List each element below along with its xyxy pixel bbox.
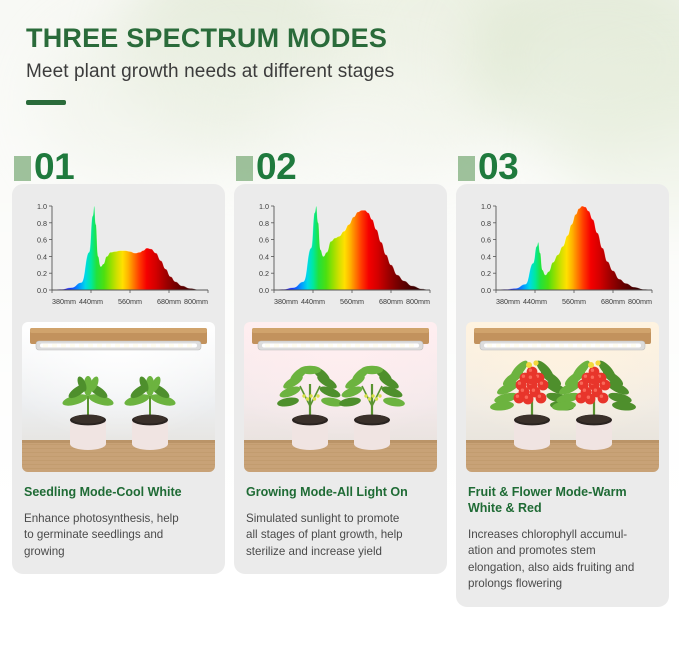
mode-column-03: 030.00.20.40.60.81.0380mm440mm560mm680mm… — [456, 139, 669, 607]
svg-text:560mm: 560mm — [118, 297, 142, 306]
svg-text:0.0: 0.0 — [481, 286, 491, 295]
young-plants-under-full-spectrum-grow-light — [244, 322, 437, 472]
svg-text:0.4: 0.4 — [259, 252, 269, 261]
badge-square-icon — [14, 156, 31, 181]
svg-text:380mm: 380mm — [52, 297, 76, 306]
mode-badge-02: 02 — [234, 139, 447, 184]
svg-text:1.0: 1.0 — [481, 202, 491, 211]
mode-title: Fruit & Flower Mode-Warm White & Red — [466, 484, 659, 516]
mode-number: 03 — [478, 150, 518, 184]
svg-text:800mm: 800mm — [628, 297, 652, 306]
fruiting-tomato-plants-under-warm-red-grow-light — [466, 322, 659, 472]
mode-description: Enhance photosynthesis, help to germinat… — [22, 511, 215, 560]
mode-description: Increases chlorophyll accumul- ation and… — [466, 527, 659, 593]
svg-text:440mm: 440mm — [523, 297, 547, 306]
mode-description: Simulated sunlight to promote all stages… — [244, 511, 437, 560]
svg-text:800mm: 800mm — [406, 297, 430, 306]
svg-text:680mm: 680mm — [601, 297, 625, 306]
svg-text:0.0: 0.0 — [37, 286, 47, 295]
seedlings-under-cool-white-grow-light — [22, 322, 215, 472]
svg-text:0.0: 0.0 — [259, 286, 269, 295]
page-title: THREE SPECTRUM MODES — [26, 24, 679, 54]
svg-text:1.0: 1.0 — [37, 202, 47, 211]
page-subtitle: Meet plant growth needs at different sta… — [26, 61, 679, 83]
svg-text:0.6: 0.6 — [481, 236, 491, 245]
svg-text:0.8: 0.8 — [481, 219, 491, 228]
mode-title: Growing Mode-All Light On — [244, 484, 437, 500]
mode-badge-03: 03 — [456, 139, 669, 184]
mode-title: Seedling Mode-Cool White — [22, 484, 215, 500]
header: THREE SPECTRUM MODES Meet plant growth n… — [0, 0, 679, 105]
mode-badge-01: 01 — [12, 139, 225, 184]
svg-text:0.2: 0.2 — [37, 269, 47, 278]
svg-text:560mm: 560mm — [562, 297, 586, 306]
mode-number: 01 — [34, 150, 74, 184]
svg-text:380mm: 380mm — [274, 297, 298, 306]
mode-card: 0.00.20.40.60.81.0380mm440mm560mm680mm80… — [234, 184, 447, 574]
svg-text:800mm: 800mm — [184, 297, 208, 306]
mode-column-01: 010.00.20.40.60.81.0380mm440mm560mm680mm… — [12, 139, 225, 574]
svg-text:0.2: 0.2 — [259, 269, 269, 278]
svg-text:0.8: 0.8 — [37, 219, 47, 228]
svg-text:0.6: 0.6 — [259, 236, 269, 245]
svg-text:0.6: 0.6 — [37, 236, 47, 245]
mode-column-02: 020.00.20.40.60.81.0380mm440mm560mm680mm… — [234, 139, 447, 574]
svg-text:440mm: 440mm — [79, 297, 103, 306]
mode-card: 0.00.20.40.60.81.0380mm440mm560mm680mm80… — [12, 184, 225, 574]
svg-text:440mm: 440mm — [301, 297, 325, 306]
badge-square-icon — [458, 156, 475, 181]
title-divider — [26, 100, 66, 105]
spectrum-chart-02: 0.00.20.40.60.81.0380mm440mm560mm680mm80… — [244, 194, 437, 316]
svg-text:1.0: 1.0 — [259, 202, 269, 211]
spectrum-chart-03: 0.00.20.40.60.81.0380mm440mm560mm680mm80… — [466, 194, 659, 316]
mode-card-list: 010.00.20.40.60.81.0380mm440mm560mm680mm… — [0, 139, 679, 607]
svg-text:680mm: 680mm — [157, 297, 181, 306]
svg-text:0.4: 0.4 — [481, 252, 491, 261]
svg-text:380mm: 380mm — [496, 297, 520, 306]
mode-number: 02 — [256, 150, 296, 184]
svg-text:680mm: 680mm — [379, 297, 403, 306]
svg-text:0.4: 0.4 — [37, 252, 47, 261]
spectrum-chart-01: 0.00.20.40.60.81.0380mm440mm560mm680mm80… — [22, 194, 215, 316]
svg-text:0.8: 0.8 — [259, 219, 269, 228]
svg-text:560mm: 560mm — [340, 297, 364, 306]
mode-card: 0.00.20.40.60.81.0380mm440mm560mm680mm80… — [456, 184, 669, 607]
svg-text:0.2: 0.2 — [481, 269, 491, 278]
badge-square-icon — [236, 156, 253, 181]
